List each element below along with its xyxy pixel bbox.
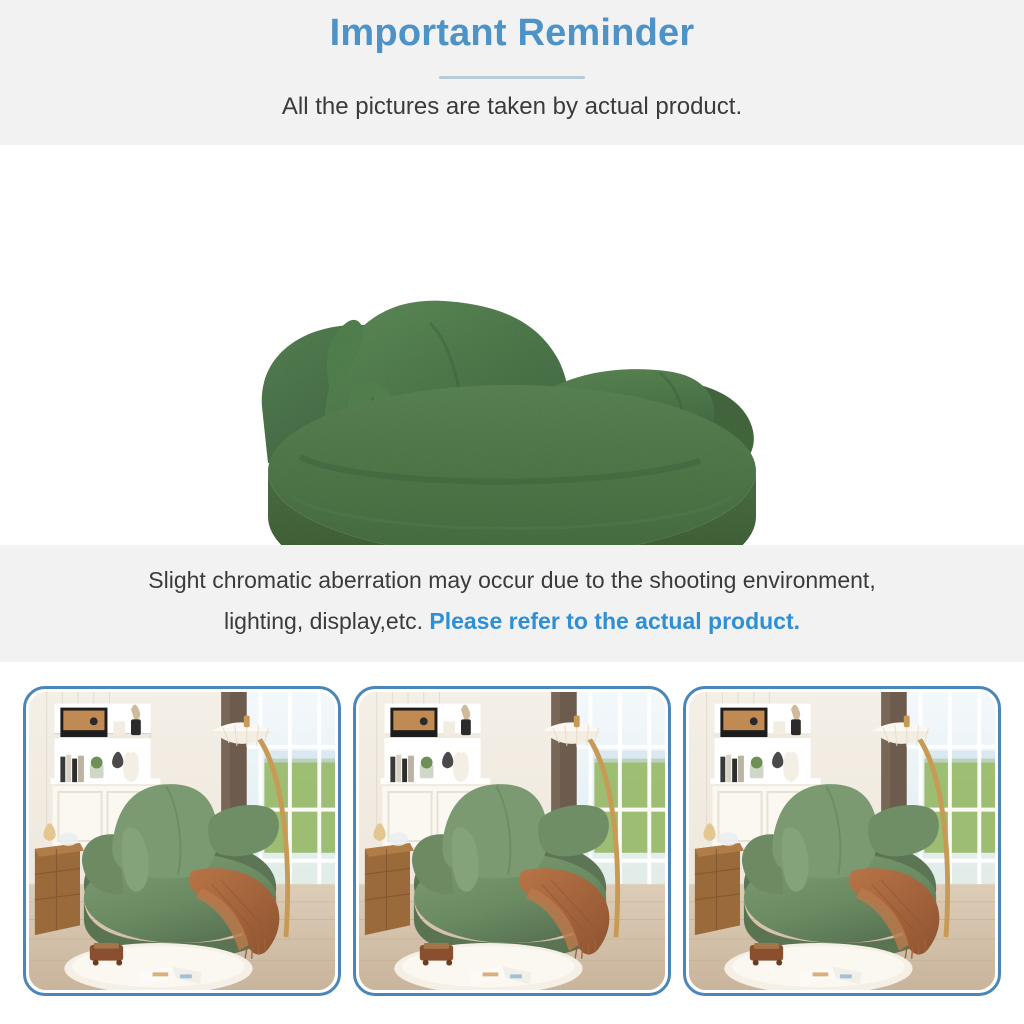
thumbnail-frame — [29, 692, 335, 990]
thumbnail-frame — [359, 692, 665, 990]
thumbnail-frame — [689, 692, 995, 990]
lifestyle-photo-2[interactable] — [353, 686, 671, 996]
product-marketing-page: Important Reminder All the pictures are … — [0, 0, 1024, 1024]
note-line-2-plain: lighting, display,etc. — [224, 608, 429, 634]
note-line-1: Slight chromatic aberration may occur du… — [148, 567, 875, 593]
living-room-scene — [29, 692, 335, 990]
living-room-scene — [689, 692, 995, 990]
chromatic-aberration-note: Slight chromatic aberration may occur du… — [62, 560, 962, 642]
page-title: Important Reminder — [0, 12, 1024, 55]
lifestyle-thumbnail-gallery — [23, 686, 1001, 996]
title-divider — [439, 76, 585, 79]
header-band: Important Reminder All the pictures are … — [0, 0, 1024, 145]
note-highlight: Please refer to the actual product. — [429, 608, 800, 634]
page-subtitle: All the pictures are taken by actual pro… — [0, 93, 1024, 121]
round-swivel-chair-illustration — [0, 145, 1024, 545]
lifestyle-photo-1[interactable] — [23, 686, 341, 996]
living-room-scene — [359, 692, 665, 990]
lifestyle-photo-3[interactable] — [683, 686, 1001, 996]
hero-product-image — [0, 145, 1024, 545]
